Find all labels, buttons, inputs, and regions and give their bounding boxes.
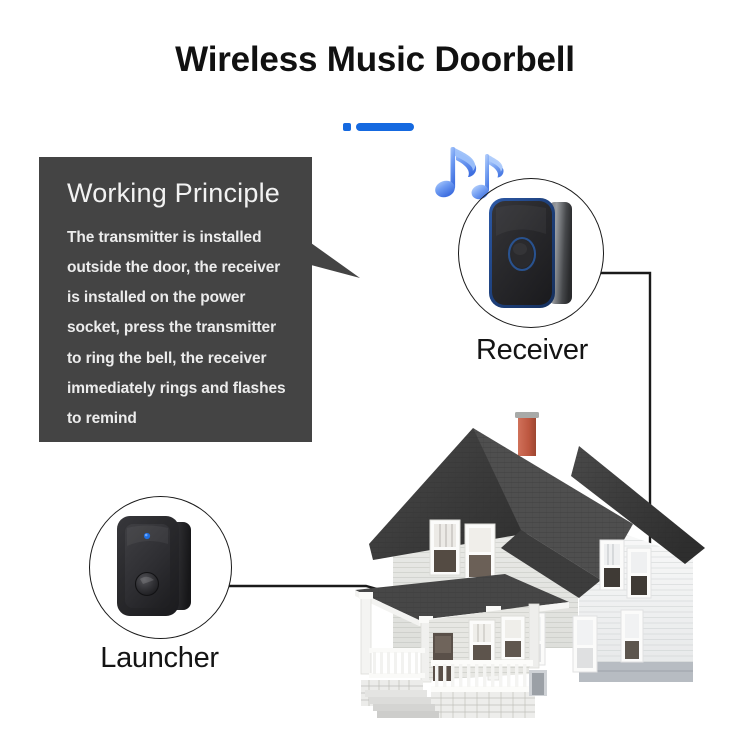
- accent-dash-bar: [356, 123, 414, 131]
- receiver-label: Receiver: [452, 334, 612, 367]
- working-principle-callout: Working Principle The transmitter is ins…: [39, 157, 312, 442]
- launcher-label: Launcher: [77, 642, 242, 675]
- chimney: [515, 412, 539, 456]
- porch-steps: [365, 690, 439, 718]
- launcher-device-image: [113, 510, 201, 622]
- callout-body-text: The transmitter is installed outside the…: [67, 223, 290, 435]
- launcher-callout: Launcher: [85, 492, 250, 702]
- callout-heading: Working Principle: [67, 179, 290, 209]
- basement-door: [529, 670, 547, 696]
- page-title: Wireless Music Doorbell: [0, 40, 750, 80]
- house-illustration: [333, 398, 733, 718]
- accent-dash-dot: [343, 123, 351, 131]
- speech-bubble-tail-icon: [311, 243, 361, 281]
- accent-dash-decoration: [340, 119, 420, 135]
- receiver-callout: Receiver: [452, 172, 612, 387]
- receiver-device-image: [486, 194, 578, 312]
- infographic-canvas: Wireless Music Doorbell: [0, 0, 750, 750]
